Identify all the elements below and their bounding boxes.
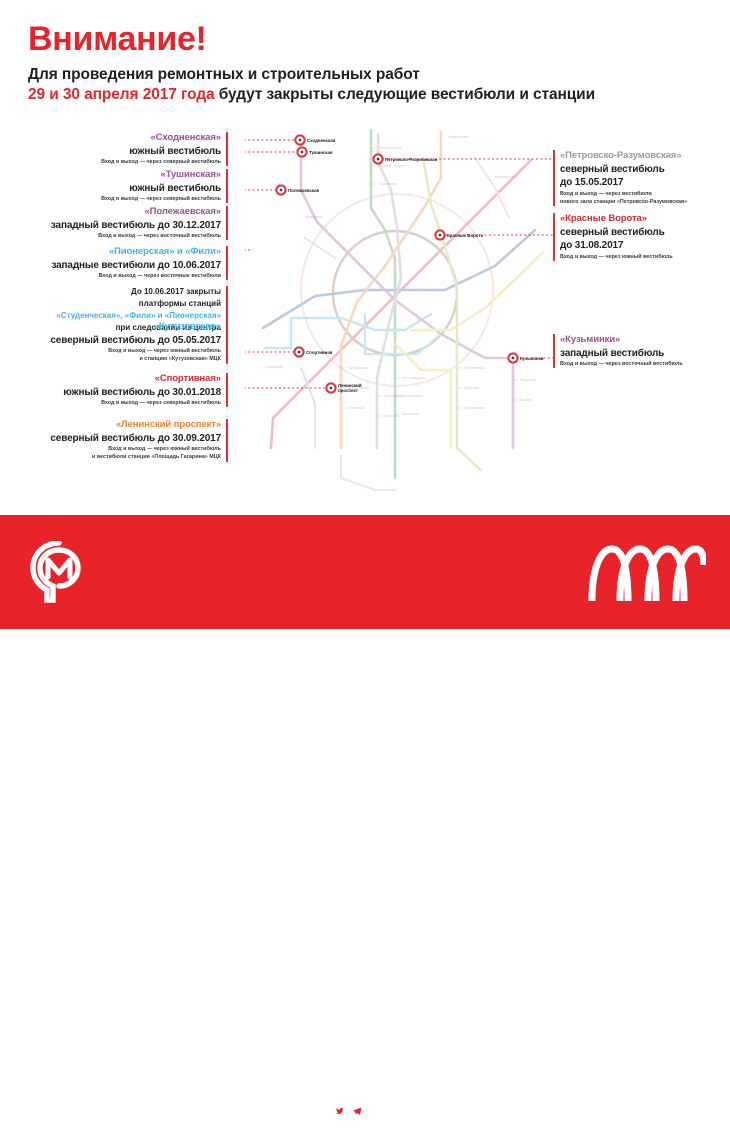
address-value-1: ул. Старая Басманная, д. 20, корп. 1; bbox=[364, 1073, 525, 1083]
callout-station-name: «Пионерская» и «Фили» bbox=[25, 246, 221, 259]
callout-polezhaevskaya: «Полежаевская» западный вестибюль до 30.… bbox=[25, 206, 228, 240]
footer-service-center-block: Сервисный центр «Московский транспорт» А… bbox=[333, 1056, 532, 1101]
callout-main-text: западный вестибюль до 30.12.2017 bbox=[25, 219, 221, 233]
callout-station-name: «Спортивная» bbox=[25, 373, 221, 386]
callout-main-text-2: до 31.08.2017 bbox=[560, 239, 723, 253]
contact-websites[interactable]: transport.mos.ru, vk.com/transportmos bbox=[108, 1101, 290, 1116]
moscow-metro-logo-icon bbox=[30, 541, 88, 603]
svg-text:Речной вокзал: Речной вокзал bbox=[379, 146, 402, 150]
svg-text:Рязанский: Рязанский bbox=[520, 378, 536, 382]
callout-sub-text: Вход и выход — через южный вестибюль bbox=[560, 253, 723, 261]
note-line2: платформы станций bbox=[25, 298, 221, 310]
svg-text:Кунцевская: Кунцевская bbox=[265, 365, 283, 369]
callout-sub-text-2: и станцию «Кутузовская» МЦК bbox=[25, 355, 221, 363]
callout-station-name: «Красные Ворота» bbox=[560, 213, 723, 226]
svg-text:Спортивная: Спортивная bbox=[306, 350, 333, 355]
svg-text:Щукинская: Щукинская bbox=[305, 215, 322, 219]
header-rest: будут закрыты следующие вестибюли и стан… bbox=[215, 86, 595, 103]
callout-sub-text-2: и вестибюли станции «Площадь Гагарина» М… bbox=[25, 453, 221, 461]
callout-main-text: западные вестибюли до 10.06.2017 bbox=[25, 259, 221, 273]
svg-text:Водный стадион: Водный стадион bbox=[379, 164, 405, 168]
note-line1: До 10.06.2017 закрыты bbox=[25, 286, 221, 298]
callout-sportivnaya: «Спортивная» южный вестибюль до 30.01.20… bbox=[25, 373, 228, 407]
svg-text:проспект: проспект bbox=[338, 388, 359, 393]
callout-sub-text-2: нового зала станции «Петровско-Разумовск… bbox=[560, 198, 723, 206]
callout-sub-text: Вход и выход — через восточный вестибюль bbox=[25, 232, 221, 240]
callout-main-text: северный вестибюль до 05.05.2017 bbox=[25, 334, 221, 348]
svg-text:Нагорная: Нагорная bbox=[384, 414, 399, 418]
svg-text:Нагатинская: Нагатинская bbox=[384, 394, 404, 398]
callout-main-text: северный вестибюль до 30.09.2017 bbox=[25, 432, 221, 446]
svg-text:Красные Ворота: Красные Ворота bbox=[447, 233, 484, 238]
social-links-row: @MetroOperativno bbox=[333, 1104, 462, 1117]
svg-text:Медведково: Медведково bbox=[449, 135, 468, 139]
service-address-line2: ул. 1905 года, д. 25. bbox=[333, 1086, 532, 1101]
callout-petrovsko-razumovskaya: «Петровско-Разумовская» северный вестибю… bbox=[553, 150, 723, 206]
map-area: Речной вокзал Водный стадион Войковская … bbox=[0, 118, 730, 514]
callout-kutuzovskaya: «Кутузовская» северный вестибюль до 05.0… bbox=[25, 321, 228, 364]
callout-pionerskaya-fili: «Пионерская» и «Фили» западные вестибюли… bbox=[25, 246, 228, 280]
callout-main-text: северный вестибюль bbox=[560, 226, 723, 240]
social-handle-text: @MetroOperativno bbox=[372, 1105, 462, 1116]
callout-main-text: южный вестибюль bbox=[25, 182, 221, 196]
callout-sub-text: Вход и выход — через северный вестибюль bbox=[25, 399, 221, 407]
callout-station-name: «Сходненская» bbox=[25, 132, 221, 145]
callout-station-name: «Петровско-Разумовская» bbox=[560, 150, 723, 163]
poster-footer: Контакт-центр «Московский транспорт» 321… bbox=[0, 515, 730, 629]
svg-text:Тушинская: Тушинская bbox=[309, 150, 333, 155]
contact-phone-long: +7 (495) 539-5454 (с городского) bbox=[108, 1086, 290, 1101]
contact-phone-short: 3210 (Билайн, МегаФон, МТС) bbox=[108, 1071, 290, 1086]
callout-station-name: «Ленинский проспект» bbox=[25, 419, 221, 432]
phone-short-number: 3210 bbox=[108, 1073, 128, 1083]
svg-text:Ленинский: Ленинский bbox=[348, 406, 365, 410]
callout-main-text: северный вестибюль bbox=[560, 163, 723, 177]
service-center-title: Сервисный центр «Московский транспорт» bbox=[333, 1056, 532, 1071]
twitter-icon[interactable] bbox=[333, 1104, 346, 1117]
page-title: Внимание! bbox=[28, 22, 730, 58]
svg-text:Каширская: Каширская bbox=[402, 412, 419, 416]
service-address-line1: Адрес: ул. Старая Басманная, д. 20, корп… bbox=[333, 1071, 532, 1086]
callout-main-text: южный вестибюль bbox=[25, 145, 221, 159]
telegram-icon[interactable] bbox=[350, 1104, 363, 1117]
callout-krasnye-vorota: «Красные Ворота» северный вестибюль до 3… bbox=[553, 213, 723, 261]
callout-sub-text: Вход и выход — через южный вестибюль bbox=[25, 347, 221, 355]
svg-text:Кожуховская: Кожуховская bbox=[464, 406, 484, 410]
callout-station-name: «Тушинская» bbox=[25, 169, 221, 182]
callout-main-text-2: до 15.05.2017 bbox=[560, 176, 723, 190]
svg-text:Крестьянская: Крестьянская bbox=[464, 366, 486, 370]
contact-center-title: Контакт-центр «Московский транспорт» bbox=[108, 1056, 290, 1071]
callout-station-name: «Кутузовская» bbox=[25, 321, 221, 334]
callout-station-name: «Кузьминки» bbox=[560, 334, 723, 347]
svg-text:Коломенская: Коломенская bbox=[402, 394, 423, 398]
callout-tushinskaya: «Тушинская» южный вестибюль Вход и выход… bbox=[25, 169, 228, 203]
callout-main-text: южный вестибюль до 30.01.2018 bbox=[25, 386, 221, 400]
header-subtitle-line2: 29 и 30 апреля 2017 года будут закрыты с… bbox=[28, 86, 730, 104]
svg-text:Петровско-Разумовская: Петровско-Разумовская bbox=[385, 157, 438, 162]
contact-website-metro[interactable]: mosmetro.ru bbox=[108, 1116, 290, 1131]
svg-text:Дубровка: Дубровка bbox=[464, 386, 479, 390]
phone-long-note: (с городского) bbox=[184, 1088, 246, 1098]
callout-sub-text: Вход и выход — через восточные вестибюли bbox=[25, 272, 221, 280]
callout-shodnenskaya: «Сходненская» южный вестибюль Вход и вых… bbox=[25, 132, 228, 166]
moscow-metro-map[interactable]: Речной вокзал Водный стадион Войковская … bbox=[245, 118, 555, 508]
callout-leninsky-prospekt: «Ленинский проспект» северный вестибюль … bbox=[25, 419, 228, 462]
header-subtitle-line1: Для проведения ремонтных и строительных … bbox=[28, 66, 730, 84]
svg-text:Сходненская: Сходненская bbox=[307, 138, 336, 143]
phone-long-number: +7 (495) 539-5454 bbox=[108, 1088, 184, 1098]
marker-polezhaevskaya[interactable]: Полежаевская bbox=[276, 185, 319, 194]
poster-header: Внимание! Для проведения ремонтных и стр… bbox=[0, 0, 730, 104]
marker-tushinskaya[interactable]: Тушинская bbox=[297, 147, 333, 156]
marker-leninsky-prospekt[interactable]: Ленинский проспект bbox=[326, 383, 361, 393]
footer-contact-center-block: Контакт-центр «Московский транспорт» 321… bbox=[108, 1056, 290, 1131]
callout-sub-text: Вход и выход — через северный вестибюль bbox=[25, 158, 221, 166]
address-label: Адрес: bbox=[333, 1073, 364, 1083]
phone-short-note: (Билайн, МегаФон, МТС) bbox=[128, 1073, 237, 1083]
callout-main-text: западный вестибюль bbox=[560, 347, 723, 361]
svg-text:Полежаевская: Полежаевская bbox=[288, 188, 320, 193]
marker-shodnenskaya[interactable]: Сходненская bbox=[295, 135, 335, 144]
svg-text:Автозаводская: Автозаводская bbox=[402, 376, 425, 380]
svg-text:Войковская: Войковская bbox=[379, 182, 397, 186]
callout-sub-text: Вход и выход — через южный вестибюль bbox=[25, 445, 221, 453]
svg-text:Выхино: Выхино bbox=[520, 398, 532, 402]
header-date: 29 и 30 апреля 2017 года bbox=[28, 86, 215, 103]
callout-sub-text: Вход и выход — через вестибюли bbox=[560, 190, 723, 198]
mosgortrans-wave-logo bbox=[586, 543, 706, 603]
svg-text:Октябрьская: Октябрьская bbox=[348, 366, 368, 370]
callout-kuzminki: «Кузьминки» западный вестибюль Вход и вы… bbox=[553, 334, 723, 368]
svg-text:Бабушкинская: Бабушкинская bbox=[495, 175, 518, 179]
callout-sub-text: Вход и выход — через северный вестибюль bbox=[25, 195, 221, 203]
callout-sub-text: Вход и выход — через восточный вестибюль bbox=[560, 360, 723, 368]
callout-station-name: «Полежаевская» bbox=[25, 206, 221, 219]
